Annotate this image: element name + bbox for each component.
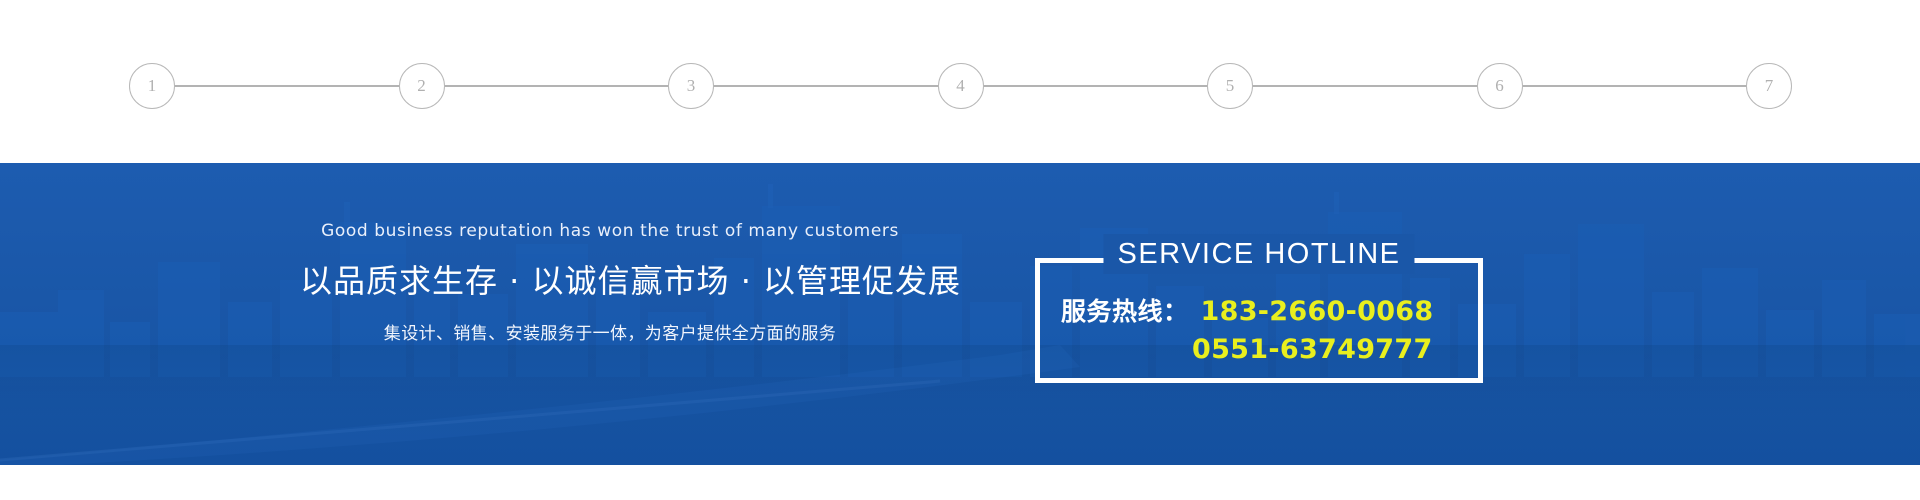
pagination-bar: 1 2 3 4 5 6 7 xyxy=(0,0,1920,163)
hotline-label: 服务热线： xyxy=(1061,292,1189,328)
slogan-subline: 集设计、销售、安装服务于一体，为客户提供全方面的服务 xyxy=(300,319,920,344)
road-curve-graphic xyxy=(0,315,1920,465)
step-node-4[interactable]: 4 xyxy=(938,63,984,109)
slogan-headline: 以品质求生存 · 以诚信赢市场 · 以管理促发展 xyxy=(300,256,920,302)
step-node-1[interactable]: 1 xyxy=(129,63,175,109)
promo-banner: Good business reputation has won the tru… xyxy=(0,163,1920,465)
hotline-title: SERVICE HOTLINE xyxy=(1103,234,1414,274)
step-node-3[interactable]: 3 xyxy=(668,63,714,109)
slogan-english-line: Good business reputation has won the tru… xyxy=(300,221,920,241)
service-hotline-box: SERVICE HOTLINE 服务热线： 183-2660-0068 0551… xyxy=(1035,258,1483,383)
hotline-row-secondary: 0551-63749777 xyxy=(1061,334,1461,365)
hotline-number-secondary[interactable]: 0551-63749777 xyxy=(1192,334,1433,365)
hotline-body: 服务热线： 183-2660-0068 0551-63749777 xyxy=(1035,292,1483,365)
footer-whitespace xyxy=(0,465,1920,500)
hotline-row-primary: 服务热线： 183-2660-0068 xyxy=(1061,292,1461,328)
hotline-number-primary[interactable]: 183-2660-0068 xyxy=(1201,296,1434,327)
step-node-2[interactable]: 2 xyxy=(399,63,445,109)
page-root: 1 2 3 4 5 6 7 xyxy=(0,0,1920,500)
step-node-5[interactable]: 5 xyxy=(1207,63,1253,109)
slogan-block: Good business reputation has won the tru… xyxy=(300,221,920,344)
step-node-6[interactable]: 6 xyxy=(1477,63,1523,109)
step-node-7[interactable]: 7 xyxy=(1746,63,1792,109)
